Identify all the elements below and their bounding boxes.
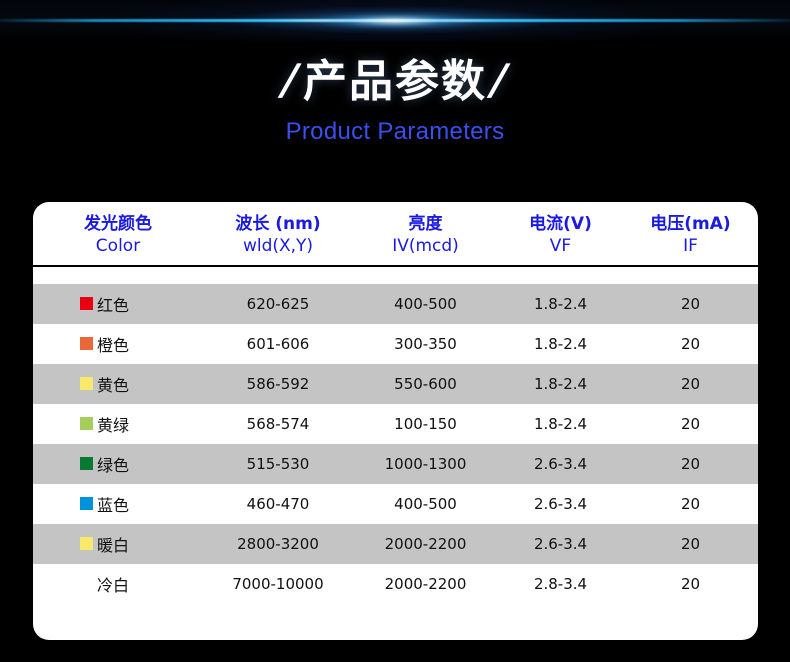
cell-voltage: 20 — [623, 444, 758, 484]
cell-color: 蓝色 — [33, 484, 203, 524]
cell-brightness: 400-500 — [353, 284, 498, 324]
cell-color: 暖白 — [33, 524, 203, 564]
col-header-current-en: VF — [498, 236, 623, 258]
table-row: 黄色586-592550-6001.8-2.420 — [33, 364, 758, 404]
color-name: 黄色 — [97, 372, 129, 396]
col-header-brightness-en: IV(mcd) — [353, 236, 498, 258]
col-header-color-en: Color — [33, 236, 203, 258]
header-spacer-row — [33, 268, 758, 284]
table-row: 红色620-625400-5001.8-2.420 — [33, 284, 758, 324]
cell-brightness: 2000-2200 — [353, 524, 498, 564]
cell-current: 2.6-3.4 — [498, 524, 623, 564]
col-header-voltage: 电压(mA) IF — [623, 202, 758, 264]
table-row: 橙色601-606300-3501.8-2.420 — [33, 324, 758, 364]
cell-voltage: 20 — [623, 284, 758, 324]
cell-wavelength: 7000-10000 — [203, 564, 353, 604]
cell-wavelength: 515-530 — [203, 444, 353, 484]
banner-center-flare — [310, 8, 480, 34]
cell-voltage: 20 — [623, 564, 758, 604]
cell-brightness: 100-150 — [353, 404, 498, 444]
table-row: 冷白7000-100002000-22002.8-3.420 — [33, 564, 758, 604]
cell-color: 黄色 — [33, 364, 203, 404]
col-header-wavelength: 波长 (nm) wld(X,Y) — [203, 202, 353, 264]
color-name: 红色 — [97, 292, 129, 316]
color-swatch — [80, 337, 93, 350]
spec-table-head: 发光颜色 Color 波长 (nm) wld(X,Y) 亮度 IV(mcd) 电… — [33, 202, 758, 284]
color-swatch — [80, 457, 93, 470]
table-row: 绿色515-5301000-13002.6-3.420 — [33, 444, 758, 484]
cell-voltage: 20 — [623, 404, 758, 444]
col-header-wavelength-cn: 波长 (nm) — [235, 214, 320, 234]
cell-color: 冷白 — [33, 564, 203, 604]
header-separator-line — [33, 265, 758, 267]
color-swatch — [80, 297, 93, 310]
cell-current: 1.8-2.4 — [498, 284, 623, 324]
color-swatch — [80, 577, 93, 590]
spec-table-body: 红色620-625400-5001.8-2.420橙色601-606300-35… — [33, 284, 758, 604]
col-header-wavelength-en: wld(X,Y) — [203, 236, 353, 258]
cell-color: 橙色 — [33, 324, 203, 364]
page-subtitle: Product Parameters — [0, 118, 790, 146]
cell-current: 2.8-3.4 — [498, 564, 623, 604]
color-name: 蓝色 — [97, 492, 129, 516]
color-name: 橙色 — [97, 332, 129, 356]
cell-color: 绿色 — [33, 444, 203, 484]
cell-wavelength: 2800-3200 — [203, 524, 353, 564]
col-header-current: 电流(V) VF — [498, 202, 623, 264]
spec-table: 发光颜色 Color 波长 (nm) wld(X,Y) 亮度 IV(mcd) 电… — [33, 202, 758, 604]
cell-wavelength: 568-574 — [203, 404, 353, 444]
table-row: 黄绿568-574100-1501.8-2.420 — [33, 404, 758, 444]
spec-card: 发光颜色 Color 波长 (nm) wld(X,Y) 亮度 IV(mcd) 电… — [33, 202, 758, 640]
col-header-brightness-cn: 亮度 — [409, 214, 443, 234]
cell-brightness: 400-500 — [353, 484, 498, 524]
color-swatch — [80, 417, 93, 430]
cell-current: 1.8-2.4 — [498, 364, 623, 404]
cell-wavelength: 460-470 — [203, 484, 353, 524]
cell-wavelength: 620-625 — [203, 284, 353, 324]
cell-color: 红色 — [33, 284, 203, 324]
cell-current: 1.8-2.4 — [498, 404, 623, 444]
color-swatch — [80, 377, 93, 390]
color-swatch — [80, 497, 93, 510]
cell-current: 2.6-3.4 — [498, 484, 623, 524]
col-header-voltage-en: IF — [623, 236, 758, 258]
cell-voltage: 20 — [623, 324, 758, 364]
color-swatch — [80, 537, 93, 550]
table-row: 暖白2800-32002000-22002.6-3.420 — [33, 524, 758, 564]
hero-banner — [0, 0, 790, 42]
cell-wavelength: 601-606 — [203, 324, 353, 364]
cell-brightness: 550-600 — [353, 364, 498, 404]
cell-voltage: 20 — [623, 484, 758, 524]
cell-brightness: 300-350 — [353, 324, 498, 364]
title-block: /产品参数/ Product Parameters — [0, 58, 790, 146]
product-parameters-page: /产品参数/ Product Parameters 发光颜色 Color 波长 … — [0, 0, 790, 662]
cell-voltage: 20 — [623, 524, 758, 564]
color-name: 绿色 — [97, 452, 129, 476]
cell-wavelength: 586-592 — [203, 364, 353, 404]
col-header-current-cn: 电流(V) — [529, 214, 592, 234]
cell-brightness: 1000-1300 — [353, 444, 498, 484]
page-title-text: 产品参数 — [303, 56, 487, 107]
color-name: 暖白 — [97, 532, 129, 556]
header-row: 发光颜色 Color 波长 (nm) wld(X,Y) 亮度 IV(mcd) 电… — [33, 202, 758, 264]
cell-current: 1.8-2.4 — [498, 324, 623, 364]
cell-color: 黄绿 — [33, 404, 203, 444]
col-header-voltage-cn: 电压(mA) — [650, 214, 730, 234]
col-header-color-cn: 发光颜色 — [84, 214, 152, 234]
cell-brightness: 2000-2200 — [353, 564, 498, 604]
color-name: 冷白 — [97, 572, 129, 596]
table-row: 蓝色460-470400-5002.6-3.420 — [33, 484, 758, 524]
color-name: 黄绿 — [97, 412, 129, 436]
page-title: /产品参数/ — [0, 58, 790, 106]
col-header-brightness: 亮度 IV(mcd) — [353, 202, 498, 264]
col-header-color: 发光颜色 Color — [33, 202, 203, 264]
cell-current: 2.6-3.4 — [498, 444, 623, 484]
cell-voltage: 20 — [623, 364, 758, 404]
